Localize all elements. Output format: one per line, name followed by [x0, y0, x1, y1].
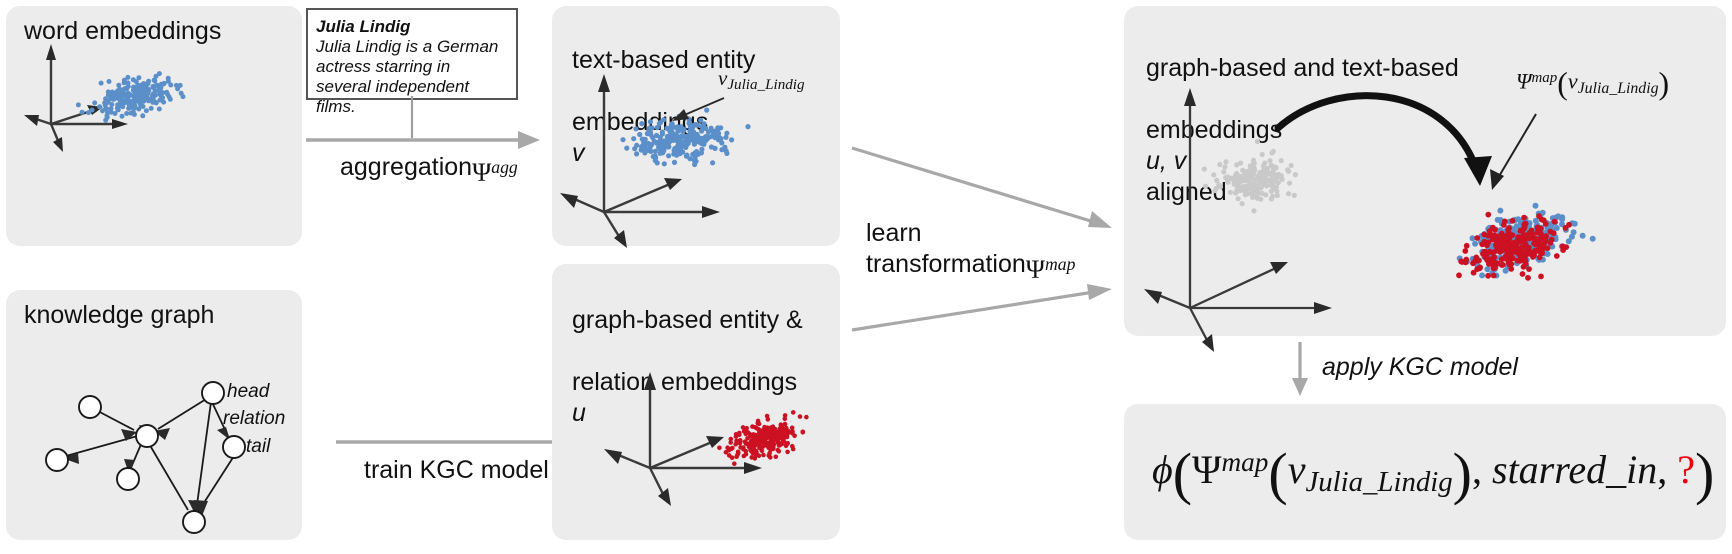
formula-v: v: [1288, 447, 1306, 492]
formula-open-paren-inner: (: [1268, 441, 1287, 506]
learn-transformation-l1: learn: [866, 219, 922, 247]
formula-comma-2: ,: [1657, 447, 1677, 492]
entity-title: Julia Lindig: [308, 10, 516, 37]
v-julia-lindig-annotation: vJulia_Lindig: [718, 66, 805, 94]
psi-map-symbol: Ψ: [1516, 69, 1531, 94]
word-embeddings-scatter: [6, 6, 302, 246]
aggregation-label-text: aggregation: [340, 153, 472, 181]
psi-map-open-paren: (: [1557, 66, 1568, 101]
formula-relation: starred_in: [1492, 447, 1657, 492]
formula-psi-sup: map: [1222, 447, 1269, 477]
graph-node-label-relation: relation: [223, 408, 285, 430]
formula-close-paren-outer: ): [1695, 441, 1714, 506]
psi-map-v-annotation: Ψmap(vJulia_Lindig): [1516, 66, 1669, 102]
graph-entity-scatter: [552, 264, 840, 540]
formula-v-sub: Julia_Lindig: [1305, 466, 1452, 498]
formula-comma-1: ,: [1472, 447, 1492, 492]
entity-infobox: Julia Lindig Julia Lindig is a German ac…: [306, 8, 518, 100]
graph-node-label-tail: tail: [246, 436, 270, 458]
formula-close-paren-inner: ): [1453, 441, 1472, 506]
kgc-output-formula: ϕ(Ψmap(vJulia_Lindig), starred_in, ?): [1152, 440, 1714, 507]
v-base: v: [718, 66, 727, 90]
psi-map-sup: map: [1531, 70, 1557, 86]
formula-unknown: ?: [1677, 447, 1695, 492]
learn-transformation-label: learn transformation Ψmap: [866, 218, 1026, 280]
text-entity-scatter: [552, 6, 840, 246]
train-kgc-label: train KGC model: [364, 455, 549, 486]
psi-map-close-paren: ): [1659, 66, 1670, 101]
aggregation-label: aggregation Ψagg: [340, 152, 472, 183]
aggregation-symbol: Ψagg: [472, 152, 518, 188]
learn-transformation-symbol: Ψmap: [1026, 249, 1076, 285]
formula-open-paren-outer: (: [1173, 441, 1192, 506]
apply-kgc-label: apply KGC model: [1322, 352, 1518, 383]
psi-map-v-base: v: [1568, 69, 1578, 94]
formula-phi: ϕ: [1152, 447, 1173, 492]
learn-transformation-l2: transformation: [866, 250, 1026, 278]
graph-node-label-head: head: [227, 381, 269, 403]
aligned-scatter: [1124, 6, 1726, 336]
psi-map-v-sub: Julia_Lindig: [1578, 80, 1659, 97]
formula-psi: Ψ: [1192, 447, 1222, 492]
v-subscript: Julia_Lindig: [727, 77, 804, 93]
